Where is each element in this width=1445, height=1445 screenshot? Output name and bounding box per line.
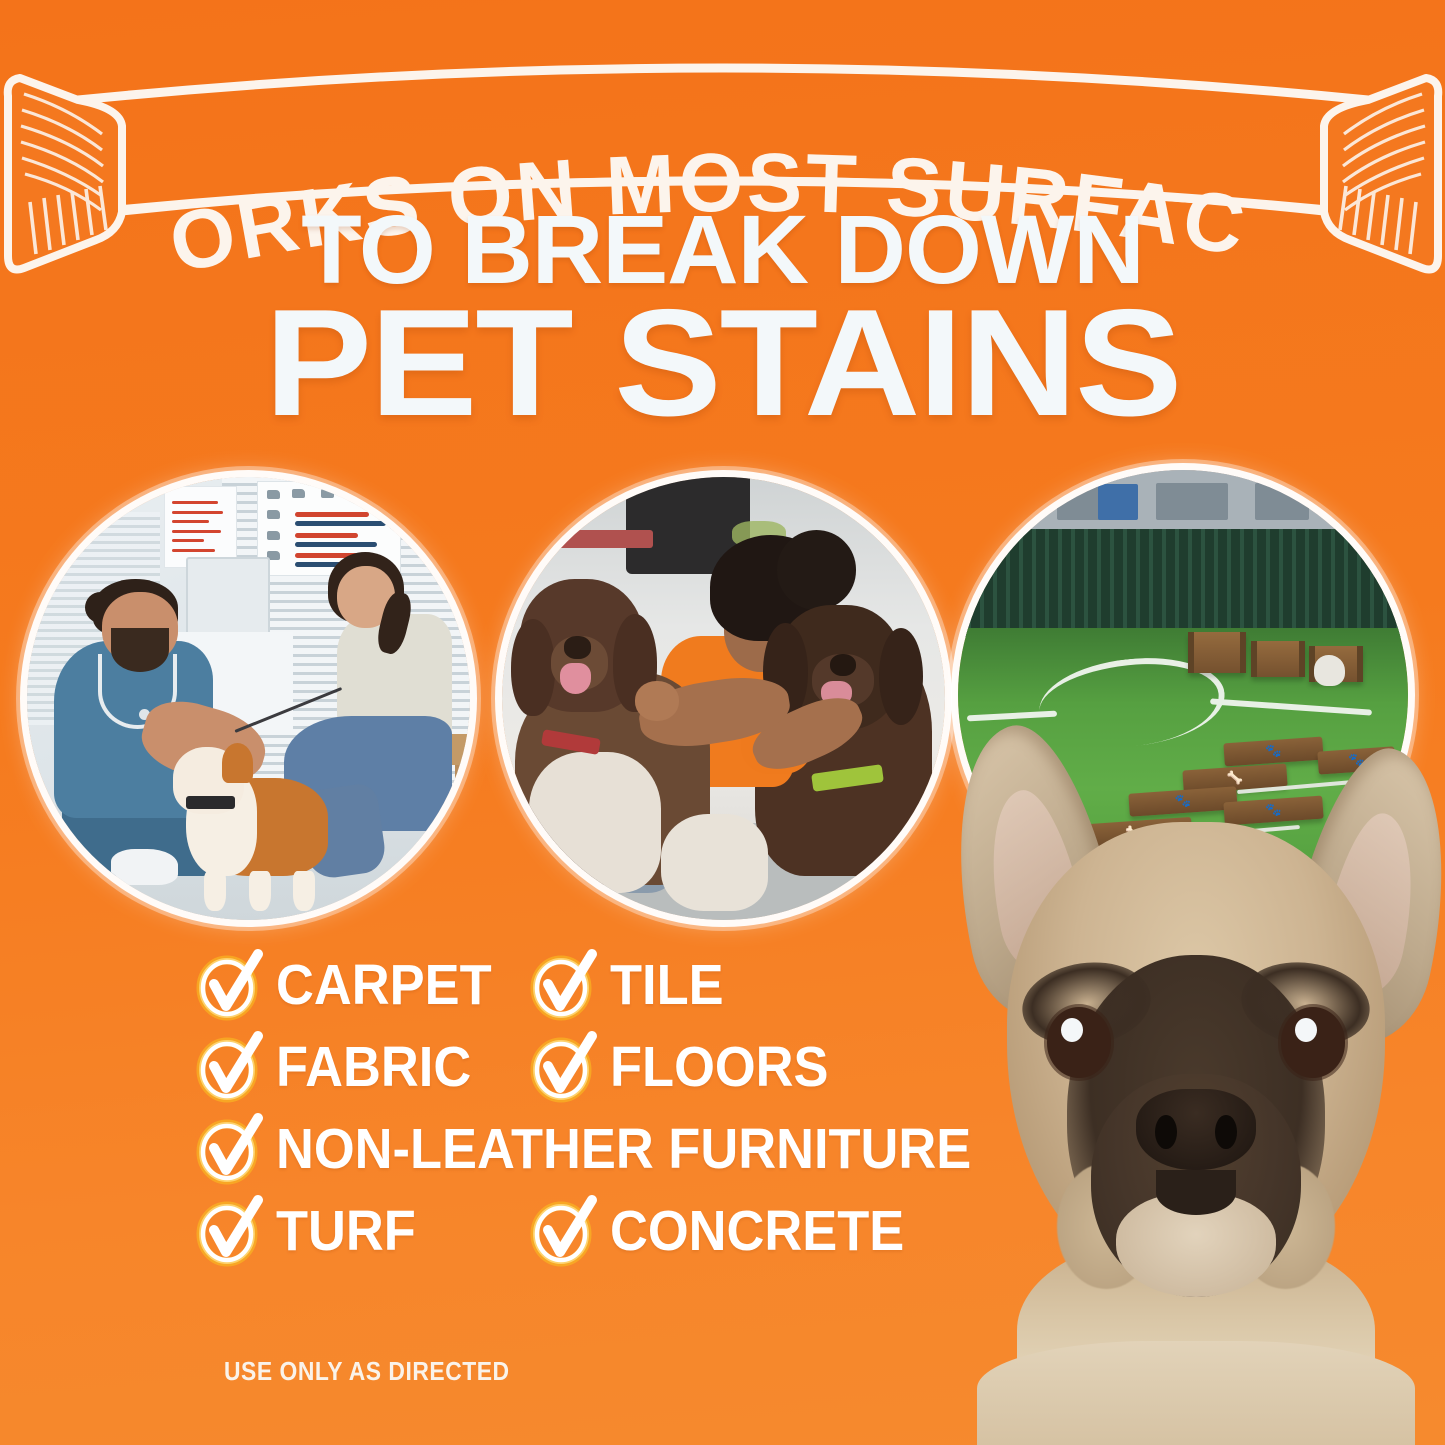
- checklist-label: CARPET: [276, 957, 492, 1014]
- dog-eye-left: [1047, 1007, 1112, 1077]
- photo-vet-clinic: [27, 477, 470, 920]
- fence-icon: [958, 529, 1408, 637]
- dog-nose: [1136, 1089, 1256, 1171]
- check-circle-icon: [196, 1034, 262, 1100]
- vet-clinic-scene: [27, 477, 470, 920]
- check-circle-icon: [530, 1198, 596, 1264]
- checklist-label: TURF: [276, 1203, 416, 1260]
- checklist-label: NON-LEATHER FURNITURE: [276, 1121, 971, 1178]
- photo-kid-with-dogs: [502, 477, 945, 920]
- checklist-item-fabric[interactable]: FABRIC: [196, 1034, 496, 1100]
- checklist-label: FABRIC: [276, 1039, 471, 1096]
- checklist-item-carpet[interactable]: CARPET: [196, 952, 496, 1018]
- checklist-label: TILE: [610, 957, 724, 1014]
- checklist-row: TURF CONCRETE: [196, 1198, 1056, 1264]
- checklist-item-floors[interactable]: FLOORS: [530, 1034, 848, 1100]
- check-circle-icon: [196, 952, 262, 1018]
- checklist-label: CONCRETE: [610, 1203, 904, 1260]
- poster-root: WORKS ON MOST SURFACES TO BREAK DOWN PET…: [0, 0, 1445, 1445]
- checklist-row: NON-LEATHER FURNITURE: [196, 1116, 1056, 1182]
- disclaimer-text: USE ONLY AS DIRECTED: [224, 1356, 510, 1387]
- dog-eye-right: [1281, 1007, 1346, 1077]
- checklist-row: CARPET TILE: [196, 952, 1056, 1018]
- check-circle-icon: [196, 1116, 262, 1182]
- wall-chart-icon: [164, 486, 237, 568]
- check-circle-icon: [530, 1034, 596, 1100]
- kid-with-dogs-scene: [502, 477, 945, 920]
- checklist-row: FABRIC FLOORS: [196, 1034, 1056, 1100]
- checklist-item-turf[interactable]: TURF: [196, 1198, 496, 1264]
- checklist-label: FLOORS: [610, 1039, 829, 1096]
- headline-line-2: PET STAINS: [0, 293, 1445, 434]
- checklist-item-concrete[interactable]: CONCRETE: [530, 1198, 930, 1264]
- surfaces-checklist: CARPET TILE: [196, 952, 1056, 1280]
- small-dog: [1314, 655, 1346, 687]
- check-circle-icon: [196, 1198, 262, 1264]
- checklist-item-tile[interactable]: TILE: [530, 952, 734, 1018]
- checklist-item-non-leather-furniture[interactable]: NON-LEATHER FURNITURE: [196, 1116, 1032, 1182]
- check-circle-icon: [530, 952, 596, 1018]
